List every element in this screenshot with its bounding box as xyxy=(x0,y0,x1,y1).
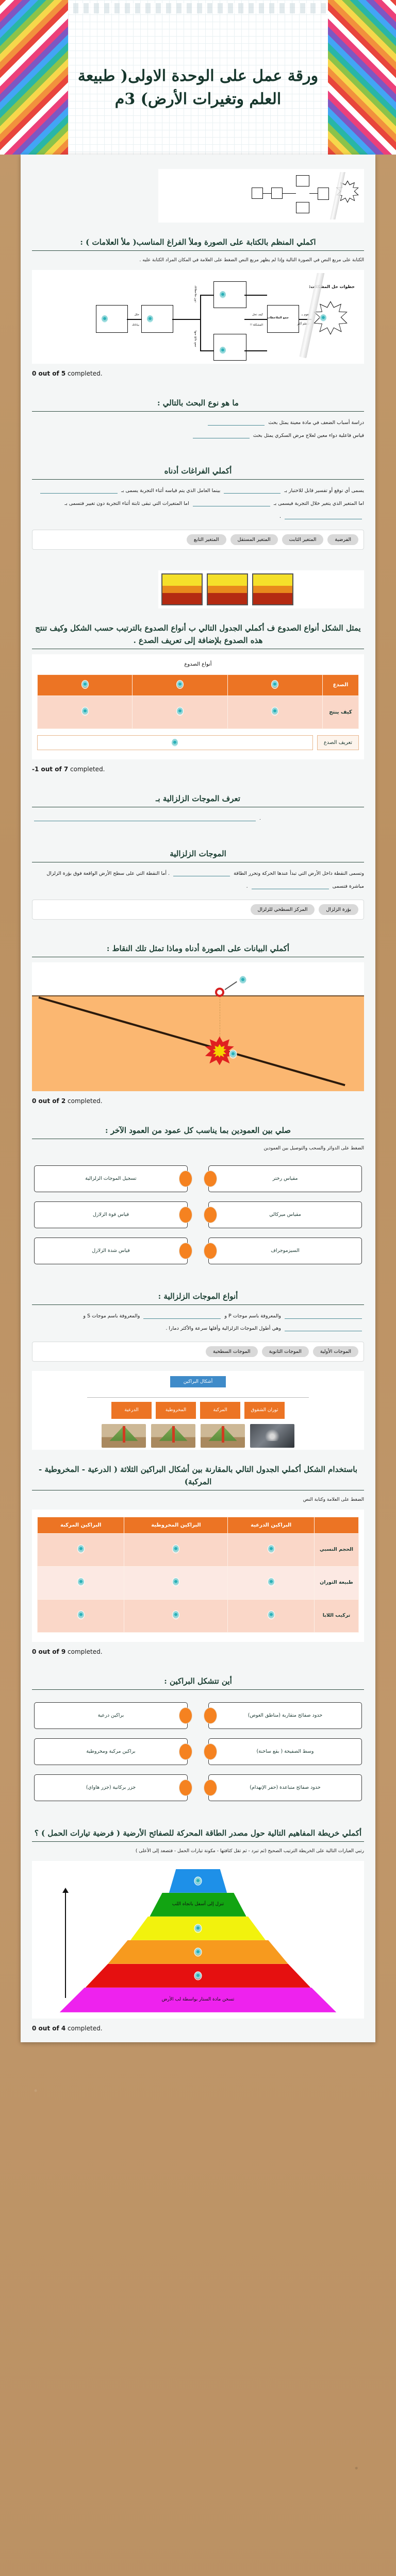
match-label: السيزموجراف xyxy=(271,1247,300,1255)
page-title: ورقة عمل على الوحدة الاولى( طبيعة العلم … xyxy=(72,26,324,149)
match-item[interactable]: مقياس رختر xyxy=(208,1165,362,1192)
pyramid-tier-2: 2 xyxy=(86,1964,311,1988)
flow-label: كيف تحل xyxy=(252,313,263,316)
fault-image-2 xyxy=(207,573,248,605)
hotspot[interactable] xyxy=(81,707,89,716)
q3-blank-1[interactable] xyxy=(224,486,280,494)
question-9: أنواع الموجات الزلزالية : والمعروفة باسم… xyxy=(21,1270,375,1365)
divider xyxy=(32,807,364,807)
match-dot[interactable] xyxy=(179,1707,192,1724)
volcano-illustrations xyxy=(35,1424,361,1448)
q3-text-2: بينما العامل الذي يتم قياسه أثناء التجرب… xyxy=(121,488,220,494)
match-item[interactable]: تسجيل الموجات الزلزالية xyxy=(34,1165,188,1192)
q7-status: 0 out of 2 completed. xyxy=(32,1097,364,1105)
q9-text: والمعروفة باسم موجات P و والمعروفة باسم … xyxy=(32,1310,364,1335)
divider xyxy=(32,1139,364,1139)
divider xyxy=(32,1841,364,1842)
pyramid-tier-3: 3 xyxy=(108,1940,288,1964)
q8-title: صلي بين العمودين بما يناسب كل عمود من ال… xyxy=(32,1124,364,1137)
volcano-type: الدرعية xyxy=(111,1402,152,1419)
q3-text: يسمى أي توقع أو تفسير قابل للاختبار بـ ب… xyxy=(32,485,364,523)
match-item[interactable]: براكين مركبة ومخروطية xyxy=(34,1738,188,1765)
flow-box-bottom xyxy=(213,334,246,361)
q2-blank-2[interactable] xyxy=(193,431,250,438)
up-arrow-icon xyxy=(65,1892,66,1998)
match-item[interactable]: قياس قوة الزلازل xyxy=(34,1201,188,1228)
q10-table-wrap: البراكين الدرعية البراكين المخروطية البر… xyxy=(32,1510,364,1642)
table-cell xyxy=(227,674,322,696)
table-cell xyxy=(38,1566,124,1599)
q10-column-3: البراكين المركبة xyxy=(38,1517,124,1533)
flow-label: دون ملاحظاتك xyxy=(194,285,197,302)
tier-number: 5 xyxy=(254,1899,259,1910)
divider xyxy=(32,649,364,649)
flow-box xyxy=(271,188,283,199)
pyramid-tier-5: تنزل إلى أسفل باتجاه اللب 5 xyxy=(150,1893,246,1917)
match-item[interactable]: قياس شدة الزلازل xyxy=(34,1238,188,1264)
epicenter-marker xyxy=(215,988,224,997)
q1-status: 0 out of 5 completed. xyxy=(32,370,364,377)
q12-title: أكملي خريطة المفاهيم التالية حول مصدر ال… xyxy=(32,1827,364,1839)
flow-connector xyxy=(172,319,201,320)
q4-row-label: كيف ينتج xyxy=(323,696,359,728)
q2-title: ما هو نوع البحث بالتالي : xyxy=(32,397,364,409)
table-cell xyxy=(124,1566,228,1599)
hotspot-epicenter[interactable] xyxy=(239,975,246,984)
flow-connector xyxy=(127,319,141,320)
chip-option[interactable]: الفرضية xyxy=(327,534,358,545)
table-cell xyxy=(38,1599,124,1632)
q4-table-wrap: أنواع الصدوع الصدع كيف ينتج xyxy=(32,654,364,759)
divider xyxy=(32,1304,364,1305)
q4-definition-box[interactable] xyxy=(37,735,313,750)
hotspot-3[interactable] xyxy=(219,346,226,354)
table-cell xyxy=(124,1599,228,1632)
flow-label: حلل xyxy=(135,313,139,316)
q2-blank-1[interactable] xyxy=(208,418,265,426)
table-row: تركيب اللابا xyxy=(38,1599,359,1632)
chip-option[interactable]: المتغير المستقل xyxy=(230,534,278,545)
q3-blank-2[interactable] xyxy=(40,486,118,494)
match-dot[interactable] xyxy=(179,1207,192,1223)
match-label: جزر بركانية (جزر هاواي) xyxy=(86,1784,136,1791)
hotspot[interactable] xyxy=(176,680,184,689)
hotspot[interactable] xyxy=(268,1578,275,1586)
flow-label: جمع نتائج منها xyxy=(194,331,197,347)
question-1: اكملي المنظم بالكتابة على الصورة وملأ ال… xyxy=(21,159,375,367)
q3-blank-3[interactable] xyxy=(193,499,270,506)
divider xyxy=(32,957,364,957)
q9-blank-1[interactable] xyxy=(285,1312,362,1319)
divider xyxy=(32,1689,364,1690)
volcano-photo xyxy=(250,1424,294,1448)
worksheet-card: اكملي المنظم بالكتابة على الصورة وملأ ال… xyxy=(21,155,375,2042)
chevron-stripes-right xyxy=(328,0,396,155)
q10-column-2: البراكين المخروطية xyxy=(124,1517,228,1533)
match-label: براكين درعية xyxy=(98,1712,124,1719)
table-cell xyxy=(38,696,133,728)
q10-status: 0 out of 9 completed. xyxy=(32,1648,364,1655)
table-cell xyxy=(38,674,133,696)
match-item[interactable]: حدود صفائح متقاربة (مناطق الغوص) xyxy=(208,1702,362,1729)
question-4: يمثل الشكل أنواع الصدوع ف أكملي الجدول ا… xyxy=(21,553,375,762)
flow-box xyxy=(318,188,329,200)
pyramid-tier-6: 6 xyxy=(169,1869,227,1893)
tier-number: 1 xyxy=(348,1994,354,2006)
match-label: براكين مركبة ومخروطية xyxy=(86,1748,135,1755)
fault-image-3 xyxy=(252,573,293,605)
q12-status: 0 out of 4 completed. xyxy=(32,2025,364,2032)
q5-blank[interactable] xyxy=(34,814,256,821)
page-bottom xyxy=(0,2063,396,2094)
hotspot-focus[interactable] xyxy=(229,1049,237,1058)
table-row: كيف ينتج xyxy=(38,696,359,728)
tier-number: 6 xyxy=(233,1875,238,1887)
q11-matching-area: حدود صفائح متقاربة (مناطق الغوص) وسط الص… xyxy=(32,1695,364,1804)
table-row: الصدع xyxy=(38,674,359,696)
volcano-type: المركبة xyxy=(200,1402,240,1419)
q3-text-5: . xyxy=(279,514,281,519)
flow-connector xyxy=(263,193,271,194)
worksheet-page: ورقة عمل على الوحدة الاولى( طبيعة العلم … xyxy=(0,0,396,2576)
chip-option[interactable]: الموجات الأولية xyxy=(313,1346,358,1357)
q4-title: يمثل الشكل أنواع الصدوع ف أكملي الجدول ا… xyxy=(32,622,364,647)
flow-box xyxy=(296,175,309,187)
q2-line-2: قياس فاعلية دواء معين لعلاج مرض السكري ي… xyxy=(32,430,364,443)
flow-connector xyxy=(283,193,296,194)
table-cell xyxy=(133,696,227,728)
match-label: تسجيل الموجات الزلزالية xyxy=(85,1175,136,1182)
q4-status: -1 out of 7 completed. xyxy=(32,766,364,773)
table-cell xyxy=(228,1533,315,1566)
q10-row-2: طبيعة الثوران xyxy=(315,1566,359,1599)
q4-fault-images xyxy=(158,570,364,608)
flow-box xyxy=(296,202,309,213)
hotspot-2[interactable] xyxy=(219,291,226,299)
q7-earthquake-diagram xyxy=(32,962,364,1091)
tier-number: 2 xyxy=(323,1970,329,1981)
match-dot[interactable] xyxy=(204,1780,217,1796)
match-dot[interactable] xyxy=(204,1707,217,1724)
tier-label: تسخن مادة الستار بواسطة لب الأرض xyxy=(162,1996,235,2003)
question-2: ما هو نوع البحث بالتالي : دراسة أسباب ال… xyxy=(21,377,375,445)
q1-organizer-image: خطوات حل المشكلات: xyxy=(32,270,364,364)
corner-cell xyxy=(315,1517,359,1533)
divider xyxy=(32,250,364,251)
q9-blank-3[interactable] xyxy=(285,1324,362,1331)
q9-blank-2[interactable] xyxy=(143,1312,221,1319)
hotspot[interactable] xyxy=(268,1611,275,1619)
q1-title: اكملي المنظم بالكتابة على الصورة وملأ ال… xyxy=(32,236,364,248)
table-row: طبيعة الثوران xyxy=(38,1566,359,1599)
tape-strip xyxy=(68,3,328,13)
q11-right-column: حدود صفائح متقاربة (مناطق الغوص) وسط الص… xyxy=(208,1702,362,1801)
volcano-chart-root: أشكال البراكين xyxy=(170,1376,226,1387)
question-6: الموجات الزلزالية وتسمى النقطة داخل الأر… xyxy=(21,828,375,922)
hotspot[interactable] xyxy=(176,707,184,716)
hotspot[interactable] xyxy=(268,1545,275,1553)
q4-definition-label: تعريف الصدع xyxy=(317,735,359,750)
hotspot[interactable] xyxy=(271,707,278,716)
hotspot[interactable] xyxy=(271,680,278,689)
table-cell xyxy=(124,1533,228,1566)
q6-blank-2[interactable] xyxy=(252,882,329,889)
hotspot-5[interactable] xyxy=(101,315,108,323)
q7-title: أكملي البيانات على الصورة أدناه وماذا تم… xyxy=(32,942,364,955)
q3-text-1: يسمى أي توقع أو تفسير قابل للاختبار بـ xyxy=(284,488,364,494)
q6-text: وتسمى النقطة داخل الأرض التي تبدأ عندها … xyxy=(32,868,364,893)
volcano-type: ثوران الشقوق xyxy=(244,1402,285,1419)
match-dot[interactable] xyxy=(204,1243,217,1259)
q9-text-1: والمعروفة باسم موجات P و xyxy=(224,1313,281,1319)
flow-connector xyxy=(200,350,213,351)
table-cell xyxy=(228,1599,315,1632)
q10-table: البراكين الدرعية البراكين المخروطية البر… xyxy=(37,1517,359,1633)
volcano-diagram-1 xyxy=(201,1424,245,1448)
divider xyxy=(32,411,364,412)
q3-word-bank: الفرضية المتغير الثابت المتغير المستقل ا… xyxy=(32,530,364,550)
question-12: أكملي خريطة المفاهيم التالية حول مصدر ال… xyxy=(21,1807,375,2022)
flow-label: المشكلة !! xyxy=(250,324,263,327)
match-dot[interactable] xyxy=(204,1207,217,1223)
match-dot[interactable] xyxy=(179,1171,192,1187)
question-7: أكملي البيانات على الصورة أدناه وماذا تم… xyxy=(21,923,375,1094)
q2-line-1: دراسة أسباب الضعف في مادة معينة يمثل بحث xyxy=(32,417,364,430)
q2-text-1: دراسة أسباب الضعف في مادة معينة يمثل بحث xyxy=(268,420,364,426)
q12-pyramid: 6 تنزل إلى أسفل باتجاه اللب 5 4 3 2 xyxy=(32,1861,364,2019)
q10-volcano-chart-image: أشكال البراكين ثوران الشقوق المركبة المخ… xyxy=(32,1371,364,1450)
hotspot[interactable] xyxy=(194,1876,202,1885)
q12-instructions: رتبي العبارات التالية على الخريطة الترتي… xyxy=(32,1847,364,1856)
match-item[interactable]: حدود صفائح متباعدة (حفر الإنهدام) xyxy=(208,1774,362,1801)
match-dot[interactable] xyxy=(179,1243,192,1259)
hotspot[interactable] xyxy=(171,738,178,747)
chip-option[interactable]: الموجات الثانوية xyxy=(262,1346,309,1357)
tier-number: 4 xyxy=(275,1922,281,1934)
tier-label: تنزل إلى أسفل باتجاه اللب xyxy=(172,1901,224,1908)
divider xyxy=(32,479,364,480)
q4-definition-row: تعريف الصدع xyxy=(37,735,359,750)
table-cell xyxy=(38,1533,124,1566)
chip-option[interactable]: المتغير التابع xyxy=(187,534,226,545)
hotspot-4[interactable] xyxy=(146,315,154,323)
q3-text-3: اما المتغير الذي يتغير خلال التجربة فيسم… xyxy=(274,501,364,506)
match-item[interactable]: براكين درعية xyxy=(34,1702,188,1729)
q9-title: أنواع الموجات الزلزالية : xyxy=(32,1290,364,1302)
volcano-chart-children: ثوران الشقوق المركبة المخروطية الدرعية xyxy=(35,1402,361,1419)
hero-banner: ورقة عمل على الوحدة الاولى( طبيعة العلم … xyxy=(0,0,396,155)
pyramid-tier-4: 4 xyxy=(130,1917,266,1940)
q1-flowchart: خطوات حل المشكلات: xyxy=(35,273,361,361)
match-dot[interactable] xyxy=(179,1780,192,1796)
match-dot[interactable] xyxy=(179,1743,192,1760)
table-cell xyxy=(228,1566,315,1599)
hotspot[interactable] xyxy=(77,1578,85,1586)
hotspot[interactable] xyxy=(81,680,89,689)
q4-table: الصدع كيف ينتج xyxy=(37,674,359,729)
question-10: أشكال البراكين ثوران الشقوق المركبة المخ… xyxy=(21,1365,375,1645)
q6-text-1: وتسمى النقطة داخل الأرض التي تبدأ عندها … xyxy=(234,871,364,876)
hotspot[interactable] xyxy=(77,1545,85,1553)
q6-text-3: . xyxy=(246,884,248,889)
match-label: حدود صفائح متقاربة (مناطق الغوص) xyxy=(248,1712,323,1719)
chip-option[interactable]: الموجات السطحية xyxy=(206,1346,258,1357)
hotspot[interactable] xyxy=(194,1971,202,1980)
q1-organizer-thumbnail xyxy=(158,169,364,223)
q4-table-caption: أنواع الصدوع xyxy=(37,662,359,667)
table-row: الحجم النسبي xyxy=(38,1533,359,1566)
volcano-type: المخروطية xyxy=(156,1402,196,1419)
chip-option[interactable]: المركز السطحي للزلزال xyxy=(251,904,315,915)
match-label: وسط الصفيحة ( بقع ساخنة) xyxy=(257,1748,314,1755)
match-item[interactable]: السيزموجراف xyxy=(208,1238,362,1264)
chevron-stripes-left xyxy=(0,0,68,155)
q1-instructions: الكتابة على مربع النص في الصورة التالية … xyxy=(32,256,364,265)
match-label: حدود صفائح متباعدة (حفر الإنهدام) xyxy=(250,1784,321,1791)
pyramid-tier-1: تسخن مادة الستار بواسطة لب الأرض 1 xyxy=(60,1988,337,2012)
table-row: البراكين الدرعية البراكين المخروطية البر… xyxy=(38,1517,359,1533)
q9-text-2: والمعروفة باسم موجات S و xyxy=(83,1313,140,1319)
match-item[interactable]: وسط الصفيحة ( بقع ساخنة) xyxy=(208,1738,362,1765)
volcano-chart-root-row: أشكال البراكين xyxy=(35,1376,361,1387)
flow-connector xyxy=(309,193,318,194)
q10-column-1: البراكين الدرعية xyxy=(228,1517,315,1533)
flow-connector xyxy=(200,295,201,350)
q8-left-column: تسجيل الموجات الزلزالية قياس قوة الزلازل… xyxy=(34,1165,188,1264)
match-item[interactable]: مقياس ميركالي xyxy=(208,1201,362,1228)
volcano-diagram-3 xyxy=(102,1424,146,1448)
match-dot[interactable] xyxy=(204,1171,217,1187)
hotspot[interactable] xyxy=(172,1611,179,1619)
chip-option[interactable]: المتغير الثابت xyxy=(282,534,324,545)
divider xyxy=(32,1490,364,1490)
question-3: أكملي الفراغات أدناه يسمى أي توقع أو تفس… xyxy=(21,445,375,552)
q3-blank-4[interactable] xyxy=(285,512,362,519)
divider xyxy=(32,862,364,862)
volcano-diagram-2 xyxy=(151,1424,195,1448)
hotspot[interactable] xyxy=(194,1924,202,1933)
leader-line xyxy=(224,981,237,990)
flow-box-top xyxy=(213,281,246,308)
flow-label: جمع الملاحظات xyxy=(267,316,289,319)
match-item[interactable]: جزر بركانية (جزر هاواي) xyxy=(34,1774,188,1801)
chart-connector xyxy=(87,1391,309,1398)
flow-box xyxy=(252,188,263,199)
q1-flowchart-thumb xyxy=(161,172,361,219)
q8-matching-area: مقياس رختر مقياس ميركالي السيزموجراف تسج… xyxy=(32,1158,364,1267)
match-label: مقياس رختر xyxy=(273,1175,298,1182)
match-dot[interactable] xyxy=(204,1743,217,1760)
q4-header-label: الصدع xyxy=(323,674,359,696)
match-label: قياس شدة الزلازل xyxy=(92,1247,130,1255)
tier-number: 3 xyxy=(300,1946,306,1958)
question-5: تعرف الموجات الزلزالية بـ . xyxy=(21,773,375,828)
q10-row-1: الحجم النسبي xyxy=(315,1533,359,1566)
q8-right-column: مقياس رختر مقياس ميركالي السيزموجراف xyxy=(208,1165,362,1264)
q10-title: باستخدام الشكل أكملي الجدول التالي بالمق… xyxy=(32,1463,364,1488)
hotspot[interactable] xyxy=(172,1578,179,1586)
flow-connector xyxy=(244,350,267,351)
flow-connector xyxy=(200,295,213,296)
q2-text-2: قياس فاعلية دواء معين لعلاج مرض السكري ي… xyxy=(253,433,364,438)
q11-left-column: براكين درعية براكين مركبة ومخروطية جزر ب… xyxy=(34,1702,188,1801)
q9-word-bank: الموجات الأولية الموجات الثانوية الموجات… xyxy=(32,1342,364,1362)
q5-answer-line: . xyxy=(32,812,364,825)
flow-connector xyxy=(244,319,267,320)
q6-word-bank: بؤرة الزلزال المركز السطحي للزلزال xyxy=(32,900,364,920)
q6-title: الموجات الزلزالية xyxy=(32,848,364,860)
q8-instructions: الضغط على الدوائر والسحب والتوصيل بين ال… xyxy=(32,1144,364,1153)
flow-label: بياناتك xyxy=(132,324,139,327)
table-cell xyxy=(227,696,322,728)
q6-blank-1[interactable] xyxy=(173,869,230,876)
hotspot[interactable] xyxy=(77,1611,85,1619)
q9-text-3: وهي أطول الموجات الزلزالية وأقلها سرعة و… xyxy=(166,1326,281,1331)
q5-title: تعرف الموجات الزلزالية بـ xyxy=(32,792,364,805)
q10-row-3: تركيب اللابا xyxy=(315,1599,359,1632)
match-label: مقياس ميركالي xyxy=(269,1211,301,1218)
fault-image-1 xyxy=(161,573,203,605)
q3-title: أكملي الفراغات أدناه xyxy=(32,465,364,477)
q3-text-4: اما المتغيرات التي تبقى ثابتة أثناء التج… xyxy=(64,501,189,506)
question-11: أين تتشكل البراكين : حدود صفائح متقاربة … xyxy=(21,1655,375,1807)
chip-option[interactable]: بؤرة الزلزال xyxy=(319,904,358,915)
q10-instructions: الضغط على العلامة وكتابة النص xyxy=(32,1496,364,1504)
table-cell xyxy=(133,674,227,696)
hotspot[interactable] xyxy=(172,1545,179,1553)
starburst-icon xyxy=(313,301,348,335)
hotspot-1[interactable] xyxy=(320,314,327,322)
q11-title: أين تتشكل البراكين : xyxy=(32,1675,364,1687)
question-8: صلي بين العمودين بما يناسب كل عمود من ال… xyxy=(21,1105,375,1270)
hotspot[interactable] xyxy=(194,1947,202,1956)
match-label: قياس قوة الزلازل xyxy=(93,1211,129,1218)
flow-connector xyxy=(244,295,267,296)
